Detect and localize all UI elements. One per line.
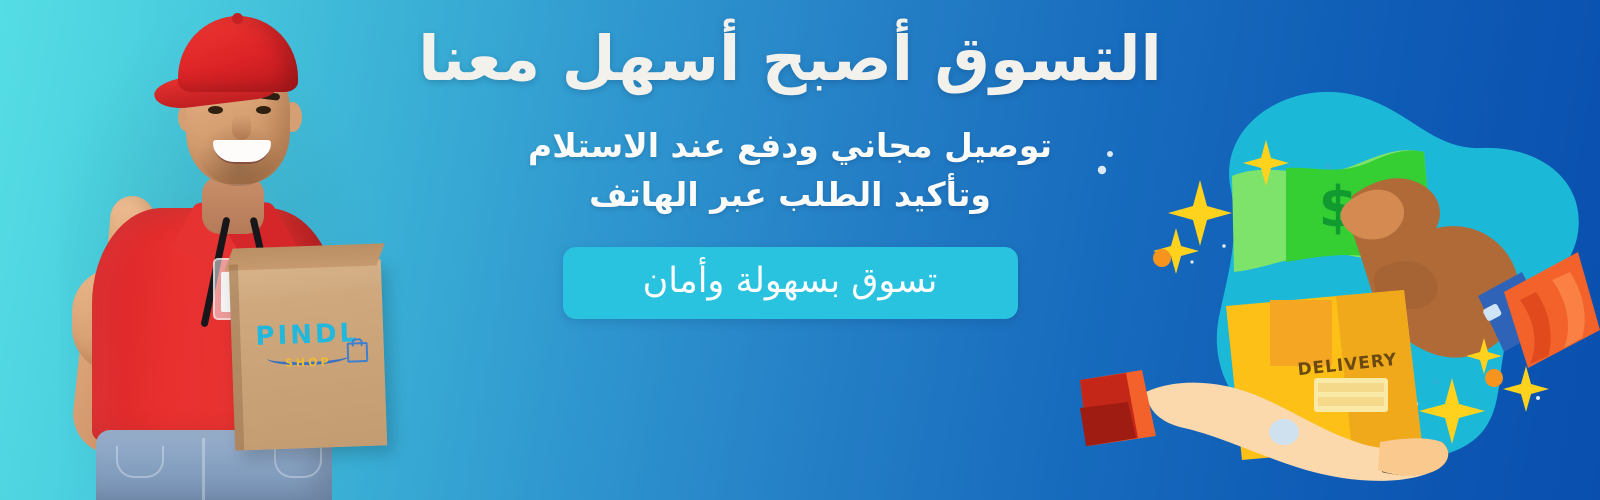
shopping-bag-icon — [347, 342, 369, 363]
person-nose — [232, 114, 251, 140]
jeans-pocket-right — [274, 446, 322, 478]
cardboard-box: PINDL SHOP — [229, 259, 387, 450]
package-tape — [1270, 300, 1332, 366]
thumb-nail — [1269, 419, 1299, 445]
cap-button — [232, 13, 243, 24]
orange-dot — [1485, 369, 1503, 387]
orange-dot — [1153, 249, 1171, 267]
page-title: التسوق أصبح أسهل معنا — [390, 0, 1190, 95]
box-top-flap — [225, 243, 385, 271]
red-sleeve-cuff — [1080, 370, 1156, 446]
person-eye-left — [208, 106, 223, 114]
jeans-pocket-left — [116, 446, 164, 478]
subheading-line-1: توصيل مجاني ودفع عند الاستلام — [390, 123, 1190, 170]
cta-container: تسوق بسهولة وأمان — [390, 247, 1190, 320]
sparkle-star — [1503, 366, 1549, 412]
subheading-line-2: وتأكيد الطلب عبر الهاتف — [390, 172, 1190, 219]
banner-copy: التسوق أصبح أسهل معنا توصيل مجاني ودفع ع… — [390, 0, 1190, 500]
shipping-label — [1314, 378, 1388, 412]
promo-banner: PINDL SHOP التسوق أصبح أسهل معنا توصيل م… — [0, 0, 1600, 500]
shop-now-button[interactable]: تسوق بسهولة وأمان — [563, 247, 1018, 320]
person-eye-right — [256, 106, 271, 114]
delivery-illustration: $ — [1080, 0, 1600, 500]
pindl-shop-logo: PINDL SHOP — [245, 320, 371, 371]
